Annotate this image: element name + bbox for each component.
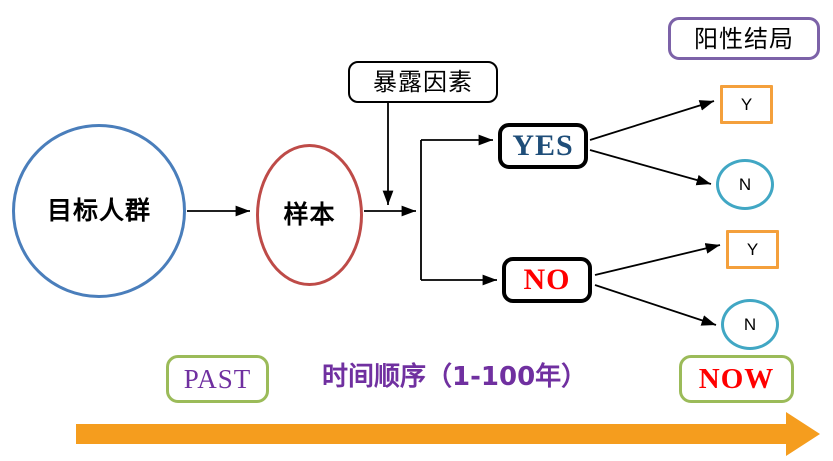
outcome-n-bottom-text: N	[744, 316, 756, 333]
sample-text: 样本	[283, 203, 335, 228]
outcome-y-top-text: Y	[741, 96, 752, 113]
diagram-canvas: 阳性结局 目标人群 样本 暴露因素 YES NO Y N Y N PAST 时间…	[0, 0, 833, 461]
node-no: NO	[502, 257, 592, 303]
outcome-n-top-text: N	[739, 176, 751, 193]
edge-no-to-outcome-y	[595, 245, 720, 275]
edge-yes-to-outcome-n	[590, 150, 711, 184]
yes-text: YES	[512, 131, 573, 161]
node-exposure-factor: 暴露因素	[348, 61, 498, 103]
no-text: NO	[524, 265, 571, 295]
node-yes: YES	[498, 123, 588, 169]
node-target-population: 目标人群	[12, 124, 186, 298]
exposure-factor-text: 暴露因素	[373, 70, 473, 94]
timeline-past-label: PAST	[166, 355, 269, 403]
timeline-now-label: NOW	[679, 355, 794, 403]
timeline-past-text: PAST	[184, 366, 252, 393]
node-outcome-y-bottom: Y	[726, 230, 779, 269]
timeline-sequence-label: 时间顺序（1-100年）	[322, 357, 632, 397]
outcome-y-bottom-text: Y	[747, 241, 758, 258]
timeline-sequence-text: 时间顺序（1-100年）	[322, 364, 587, 390]
positive-outcome-text: 阳性结局	[694, 27, 794, 51]
node-sample: 样本	[256, 144, 363, 286]
node-outcome-n-top: N	[716, 159, 774, 210]
node-outcome-y-top: Y	[720, 85, 773, 124]
node-outcome-n-bottom: N	[721, 299, 779, 350]
timeline-arrow	[76, 412, 820, 456]
target-population-text: 目标人群	[47, 199, 151, 224]
positive-outcome-label: 阳性结局	[668, 17, 820, 60]
timeline-now-text: NOW	[699, 365, 775, 394]
edge-yes-to-outcome-y	[590, 101, 714, 140]
edge-no-to-outcome-n	[595, 285, 716, 325]
